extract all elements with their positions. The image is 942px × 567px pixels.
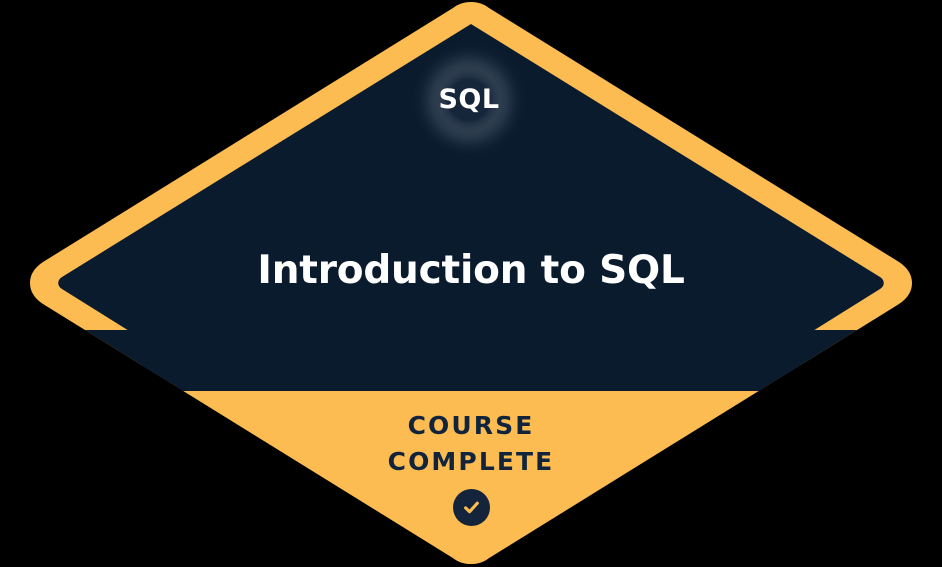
course-title: Introduction to SQL xyxy=(0,246,942,296)
course-completion-badge: SQL Introduction to SQL COURSE COMPLETE xyxy=(0,0,942,567)
completion-status-line-1: COURSE xyxy=(0,408,942,444)
sql-emblem-label: SQL xyxy=(438,86,499,113)
check-circle-icon xyxy=(453,489,490,526)
sql-circle-emblem: SQL xyxy=(410,41,528,159)
completion-status-line-2: COMPLETE xyxy=(0,444,942,480)
completion-status: COURSE COMPLETE xyxy=(0,408,942,526)
